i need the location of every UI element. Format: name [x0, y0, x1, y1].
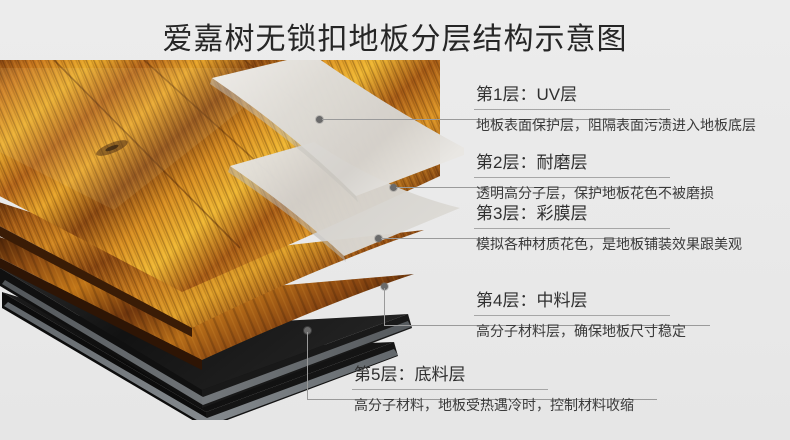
callout-5-rule — [352, 389, 548, 390]
callout-4-title: 第4层：中料层 — [474, 290, 774, 312]
callout-1-rule — [474, 109, 670, 110]
diagram-page: 爱嘉树无锁扣地板分层结构示意图 — [0, 0, 790, 440]
callout-2-title: 第2层：耐磨层 — [474, 152, 774, 174]
leader-segment-4-vertical — [384, 288, 385, 326]
callout-2-desc: 透明高分子层，保护地板花色不被磨损 — [474, 182, 774, 204]
callout-2: 第2层：耐磨层 透明高分子层，保护地板花色不被磨损 — [474, 152, 774, 204]
callout-4-desc: 高分子材料层，确保地板尺寸稳定 — [474, 320, 774, 342]
callout-3-rule — [474, 228, 670, 229]
callout-4: 第4层：中料层 高分子材料层，确保地板尺寸稳定 — [474, 290, 774, 342]
callout-2-rule — [474, 177, 670, 178]
callout-1-desc: 地板表面保护层，阻隔表面污渍进入地板底层 — [474, 114, 774, 136]
callout-5-title: 第5层：底料层 — [352, 364, 772, 386]
callout-3: 第3层：彩膜层 模拟各种材质花色，是地板铺装效果跟美观 — [474, 203, 784, 255]
callout-1: 第1层：UV层 地板表面保护层，阻隔表面污渍进入地板底层 — [474, 84, 774, 136]
callout-4-rule — [474, 315, 670, 316]
callout-3-title: 第3层：彩膜层 — [474, 203, 784, 225]
leader-segment-5-vertical — [307, 332, 308, 400]
callout-3-desc: 模拟各种材质花色，是地板铺装效果跟美观 — [474, 233, 784, 255]
page-title: 爱嘉树无锁扣地板分层结构示意图 — [0, 14, 790, 58]
callout-1-title: 第1层：UV层 — [474, 84, 774, 106]
callout-5: 第5层：底料层 高分子材料，地板受热遇冷时，控制材料收缩 — [352, 364, 772, 416]
callout-5-desc: 高分子材料，地板受热遇冷时，控制材料收缩 — [352, 394, 772, 416]
